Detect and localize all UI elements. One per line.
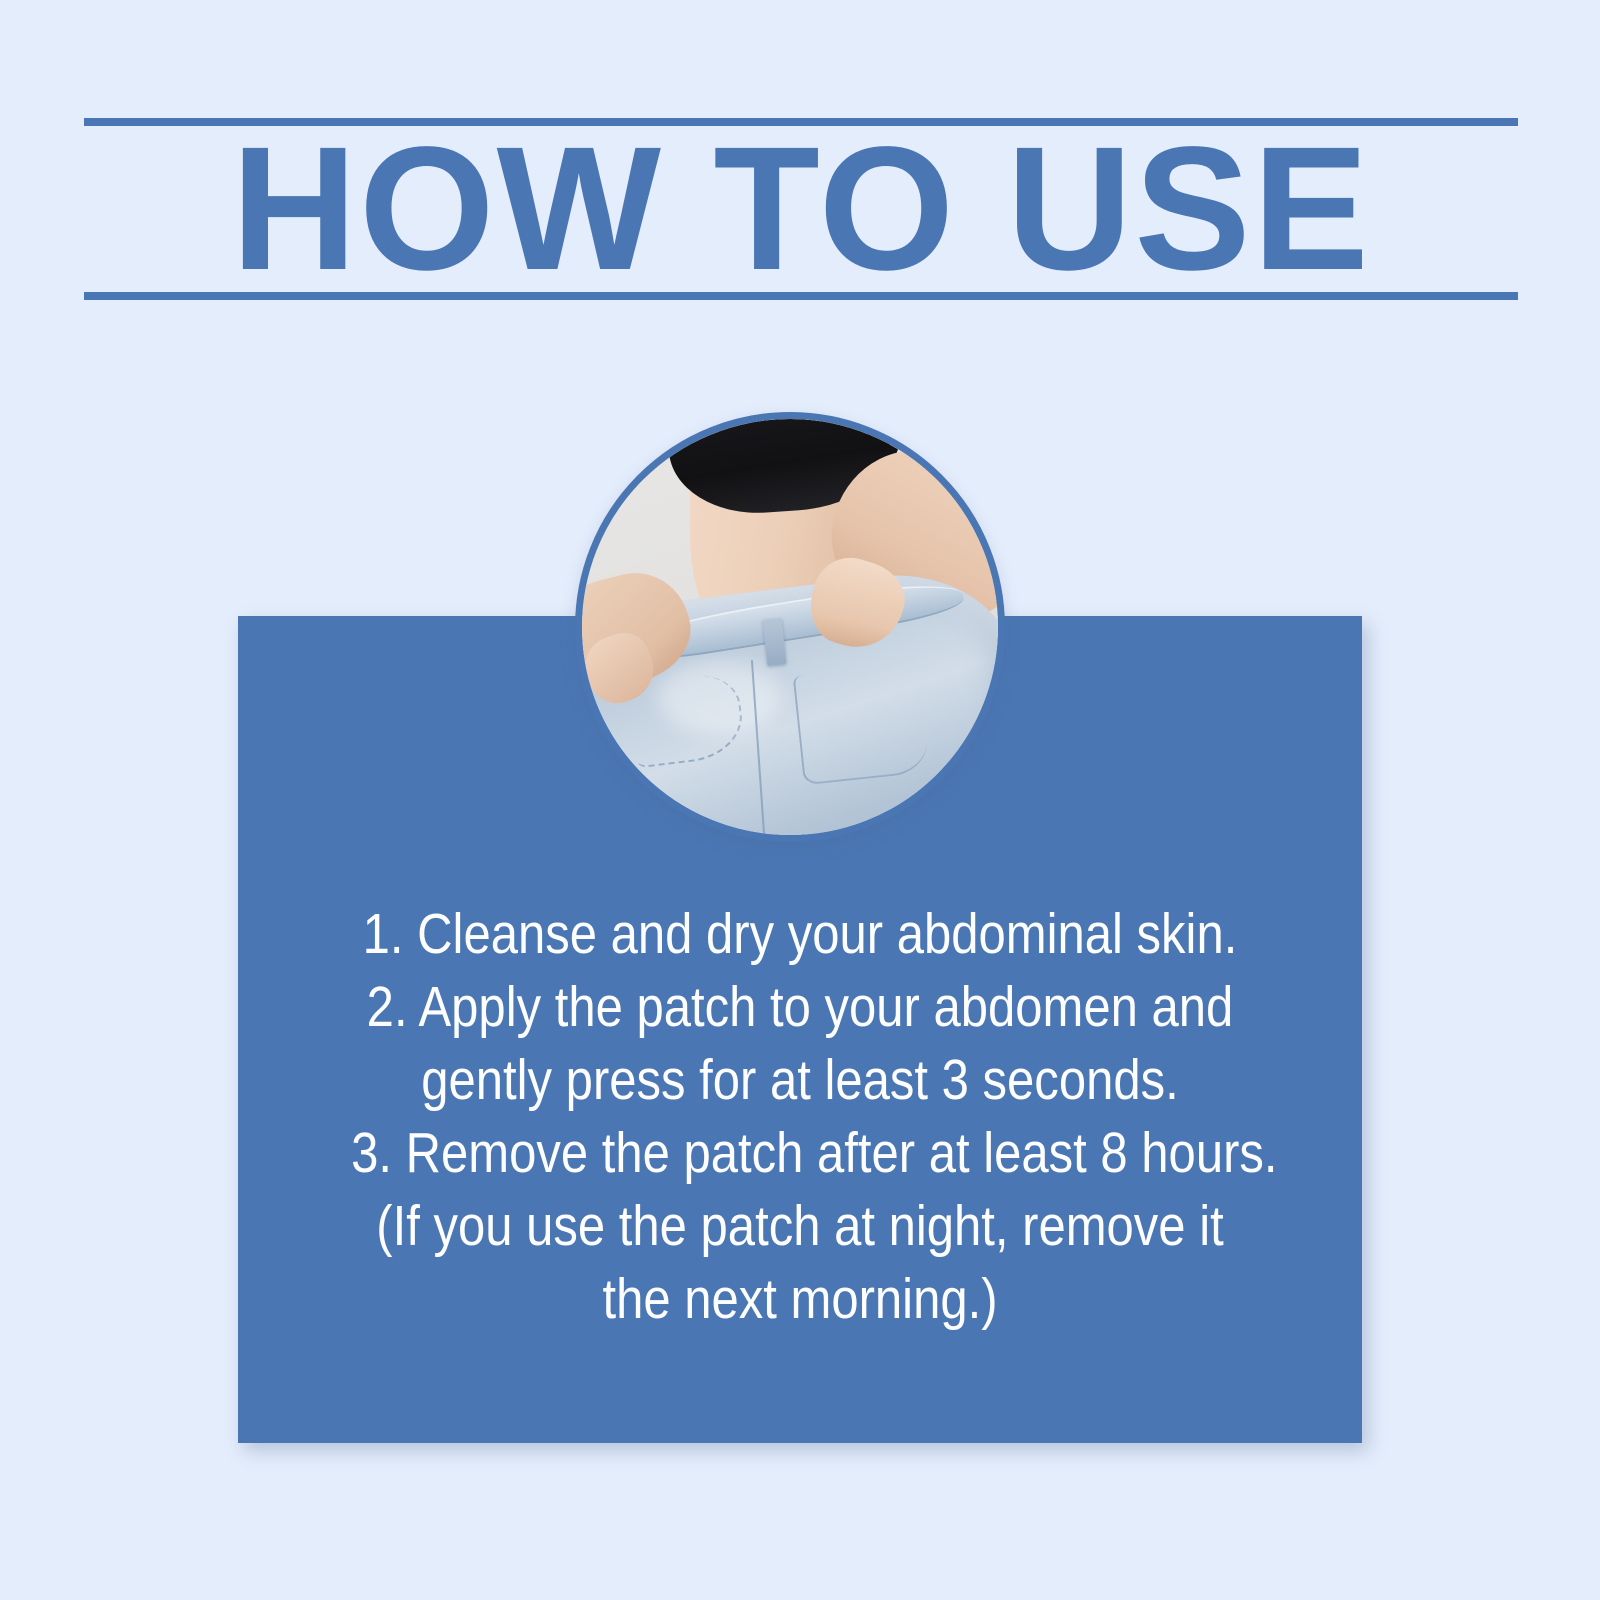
instruction-line: 1. Cleanse and dry your abdominal skin. [351, 898, 1249, 971]
jeans-back-pocket [793, 662, 931, 785]
photo-inner [582, 419, 998, 835]
instruction-line: gently press for at least 3 seconds. [351, 1044, 1249, 1117]
instructions-list: 1. Cleanse and dry your abdominal skin. … [278, 898, 1322, 1336]
header-block: HOW TO USE [84, 118, 1518, 300]
instruction-line: (If you use the patch at night, remove i… [351, 1190, 1249, 1263]
instruction-line: 3. Remove the patch after at least 8 hou… [351, 1117, 1249, 1190]
how-to-use-poster: HOW TO USE 1. Cleanse and dry your abdom… [0, 0, 1600, 1600]
instruction-line: 2. Apply the patch to your abdomen and [351, 971, 1249, 1044]
instruction-line: the next morning.) [351, 1263, 1249, 1336]
page-title: HOW TO USE [91, 118, 1511, 300]
weight-loss-photo [575, 412, 1005, 842]
title-rule-bottom [84, 292, 1518, 300]
